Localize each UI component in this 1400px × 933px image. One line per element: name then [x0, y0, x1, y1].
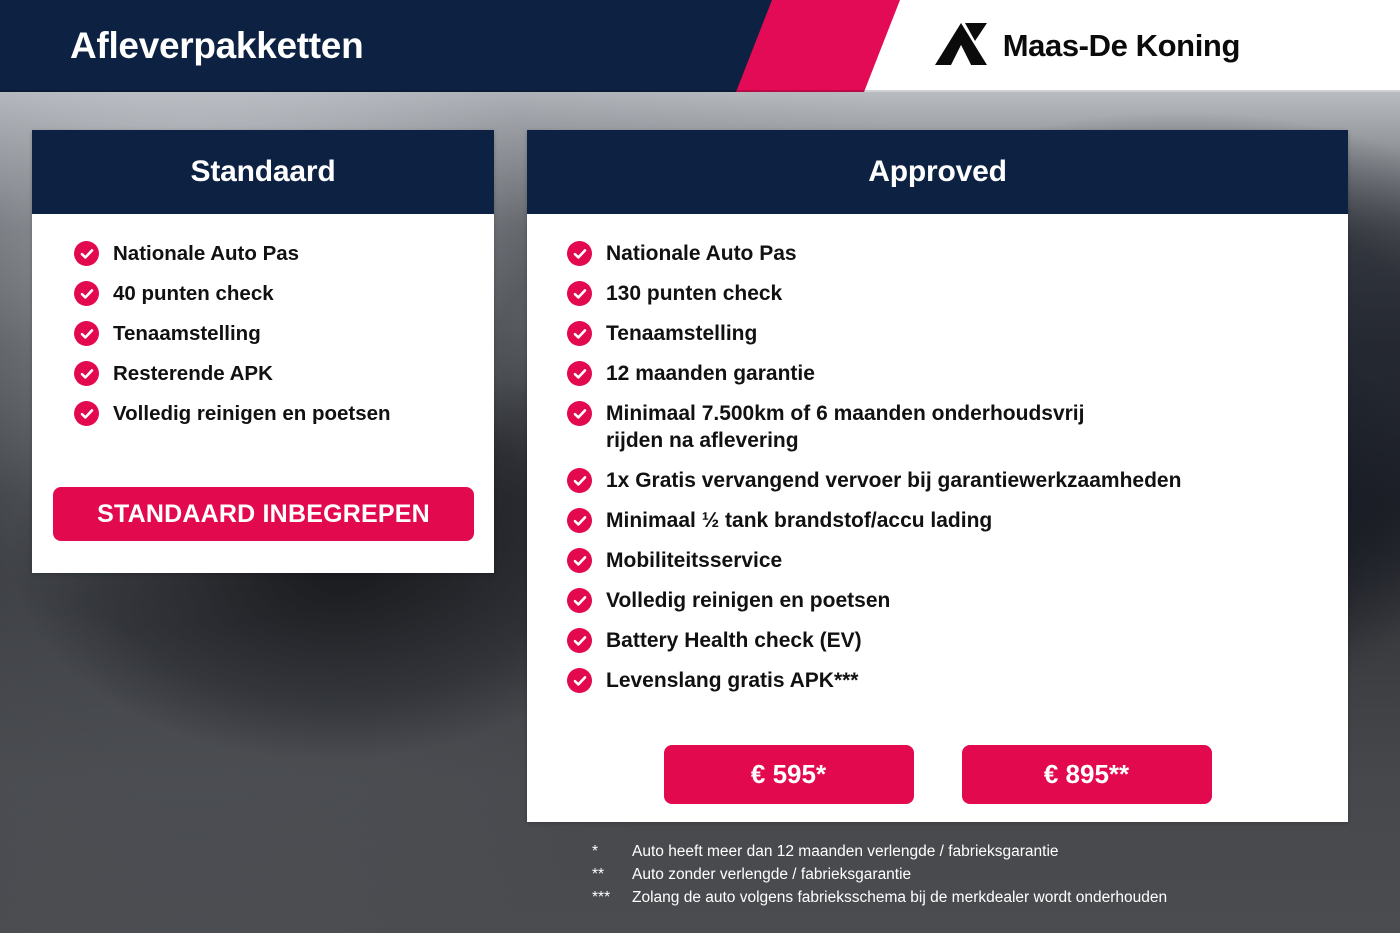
footnote-row: * Auto heeft meer dan 12 maanden verleng…: [592, 840, 1167, 863]
brand-name-text: Maas-De Koning: [1003, 28, 1240, 64]
list-item: 130 punten check: [567, 280, 1348, 307]
check-circle-icon: [74, 281, 99, 306]
footnote-mark: ***: [592, 886, 632, 909]
check-circle-icon: [567, 241, 592, 266]
list-item: Nationale Auto Pas: [74, 240, 494, 267]
feature-label: Tenaamstelling: [113, 320, 261, 347]
card-title-standaard: Standaard: [32, 130, 494, 214]
list-item: 12 maanden garantie: [567, 360, 1348, 387]
list-item: Nationale Auto Pas: [567, 240, 1348, 267]
feature-label: Volledig reinigen en poetsen: [113, 400, 391, 427]
check-circle-icon: [74, 241, 99, 266]
check-circle-icon: [74, 401, 99, 426]
standaard-included-button[interactable]: STANDAARD INBEGREPEN: [53, 487, 474, 541]
footnote-text: Auto zonder verlengde / fabrieksgarantie: [632, 863, 1167, 886]
card-title-approved: Approved: [527, 130, 1348, 214]
delivery-packages-page: Afleverpakketten Maas-De Koning Standaar…: [0, 0, 1400, 933]
list-item: Minimaal ½ tank brandstof/accu lading: [567, 507, 1348, 534]
list-item: Levenslang gratis APK***: [567, 667, 1348, 694]
check-circle-icon: [567, 548, 592, 573]
check-circle-icon: [74, 361, 99, 386]
list-item: 40 punten check: [74, 280, 494, 307]
list-item: Minimaal 7.500km of 6 maanden onderhouds…: [567, 400, 1348, 454]
price-button-595[interactable]: € 595*: [664, 745, 914, 804]
maas-de-koning-m-logo-icon: [935, 23, 987, 70]
feature-label: 40 punten check: [113, 280, 274, 307]
brand-logo: Maas-De Koning: [935, 0, 1240, 92]
feature-label: 1x Gratis vervangend vervoer bij garanti…: [606, 467, 1181, 494]
feature-label: Battery Health check (EV): [606, 627, 862, 654]
price-button-895[interactable]: € 895**: [962, 745, 1212, 804]
feature-list-standaard: Nationale Auto Pas 40 punten check Tenaa…: [32, 214, 494, 427]
check-circle-icon: [567, 588, 592, 613]
list-item: Volledig reinigen en poetsen: [74, 400, 494, 427]
list-item: Resterende APK: [74, 360, 494, 387]
page-title: Afleverpakketten: [70, 0, 363, 92]
list-item: Volledig reinigen en poetsen: [567, 587, 1348, 614]
feature-label: Minimaal 7.500km of 6 maanden onderhouds…: [606, 400, 1084, 454]
check-circle-icon: [567, 401, 592, 426]
footnote-text: Auto heeft meer dan 12 maanden verlengde…: [632, 840, 1167, 863]
feature-label: Tenaamstelling: [606, 320, 757, 347]
footnote-mark: **: [592, 863, 632, 886]
header-bar: Afleverpakketten Maas-De Koning: [0, 0, 1400, 92]
list-item: Mobiliteitsservice: [567, 547, 1348, 574]
feature-label-line2: rijden na aflevering: [606, 427, 1084, 454]
footnote-text: Zolang de auto volgens fabrieksschema bi…: [632, 886, 1167, 909]
list-item: 1x Gratis vervangend vervoer bij garanti…: [567, 467, 1348, 494]
check-circle-icon: [567, 628, 592, 653]
feature-label: Nationale Auto Pas: [606, 240, 797, 267]
price-button-row: € 595* € 895**: [527, 745, 1348, 804]
list-item: Tenaamstelling: [567, 320, 1348, 347]
feature-label: Nationale Auto Pas: [113, 240, 299, 267]
footnote-row: *** Zolang de auto volgens fabrieksschem…: [592, 886, 1167, 909]
check-circle-icon: [567, 468, 592, 493]
feature-label: Resterende APK: [113, 360, 273, 387]
feature-label: Levenslang gratis APK***: [606, 667, 858, 694]
feature-label: 12 maanden garantie: [606, 360, 815, 387]
check-circle-icon: [567, 281, 592, 306]
check-circle-icon: [567, 508, 592, 533]
list-item: Battery Health check (EV): [567, 627, 1348, 654]
feature-list-approved: Nationale Auto Pas 130 punten check Tena…: [527, 214, 1348, 694]
package-card-approved: Approved Nationale Auto Pas 130 punten c…: [527, 130, 1348, 822]
footnote-row: ** Auto zonder verlengde / fabrieksgaran…: [592, 863, 1167, 886]
check-circle-icon: [567, 321, 592, 346]
list-item: Tenaamstelling: [74, 320, 494, 347]
footnotes: * Auto heeft meer dan 12 maanden verleng…: [592, 840, 1167, 909]
card-body-approved: Nationale Auto Pas 130 punten check Tena…: [527, 214, 1348, 694]
footnote-mark: *: [592, 840, 632, 863]
feature-label: Minimaal ½ tank brandstof/accu lading: [606, 507, 992, 534]
feature-label-line1: Minimaal 7.500km of 6 maanden onderhouds…: [606, 402, 1084, 425]
check-circle-icon: [567, 668, 592, 693]
check-circle-icon: [74, 321, 99, 346]
check-circle-icon: [567, 361, 592, 386]
feature-label: Volledig reinigen en poetsen: [606, 587, 890, 614]
feature-label: Mobiliteitsservice: [606, 547, 782, 574]
card-body-standaard: Nationale Auto Pas 40 punten check Tenaa…: [32, 214, 494, 427]
feature-label: 130 punten check: [606, 280, 782, 307]
